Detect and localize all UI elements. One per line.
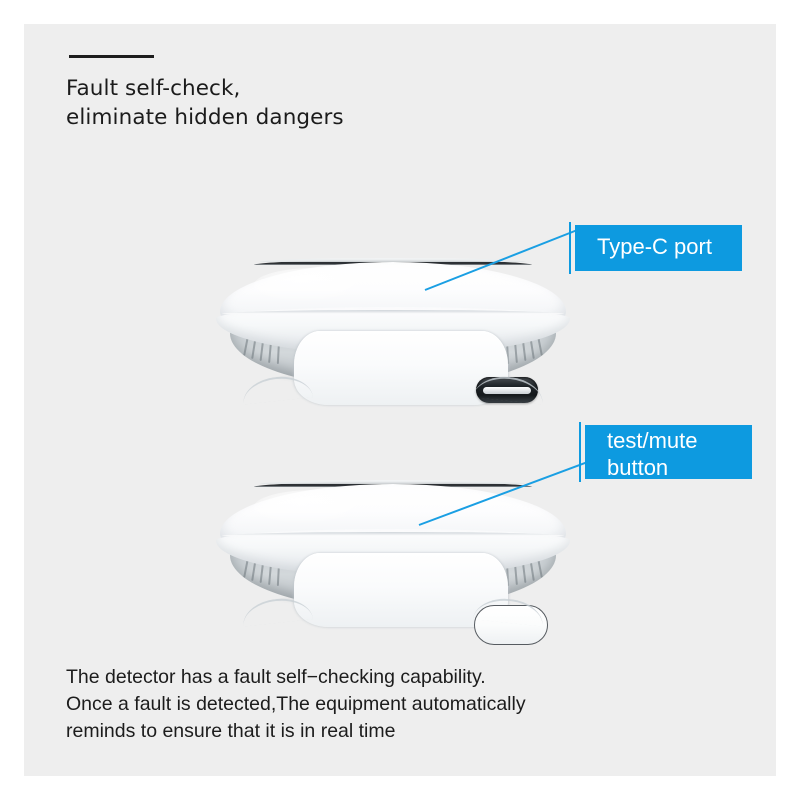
- heading-rule: [69, 55, 154, 58]
- device-seam: [222, 310, 564, 314]
- callout-tick-type-c: [569, 222, 571, 274]
- callout-label-test-mute-button: test/mute button: [585, 425, 752, 479]
- device-detector-with-button: [208, 474, 578, 612]
- callout-tick-test-mute: [579, 422, 581, 482]
- page-title: Fault self-check, eliminate hidden dange…: [66, 74, 526, 132]
- body-description: The detector has a fault self−checking c…: [66, 664, 706, 745]
- device-detector-with-port: [208, 252, 578, 390]
- device-highlight: [254, 268, 374, 302]
- poster-canvas: Fault self-check, eliminate hidden dange…: [24, 24, 776, 776]
- device-seam: [222, 532, 564, 536]
- callout-label-type-c-port: Type-C port: [575, 225, 742, 271]
- product-feature-poster: Fault self-check, eliminate hidden dange…: [0, 0, 800, 800]
- device-highlight: [254, 490, 374, 524]
